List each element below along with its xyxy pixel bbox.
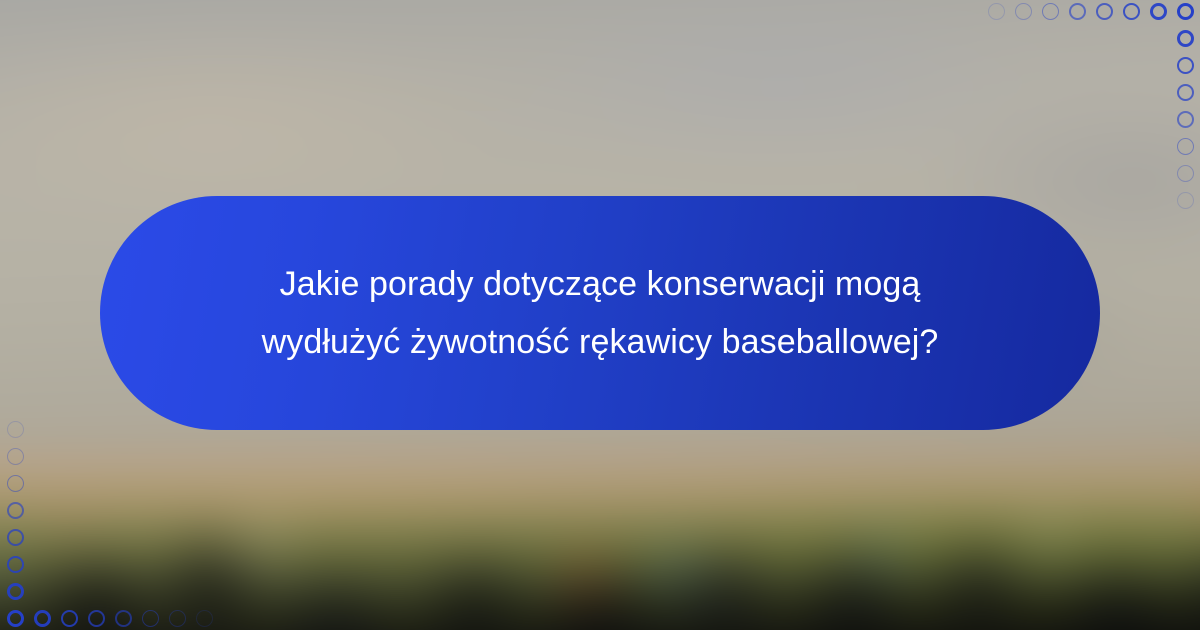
dot-left-col-1 [7, 583, 24, 600]
dot-top-row-2 [1123, 3, 1140, 20]
dot-left-col-3 [7, 529, 24, 546]
social-card-canvas: Jakie porady dotyczące konserwacji mogą … [0, 0, 1200, 630]
dot-bottom-row-7 [196, 610, 213, 627]
dot-right-col-3 [1177, 84, 1194, 101]
dot-top-row-0 [1177, 3, 1194, 20]
dot-bottom-row-1 [34, 610, 51, 627]
dot-left-col-6 [7, 448, 24, 465]
question-text: Jakie porady dotyczące konserwacji mogą … [230, 255, 970, 371]
dot-bottom-row-0 [7, 610, 24, 627]
dot-bottom-row-5 [142, 610, 159, 627]
dot-right-col-1 [1177, 30, 1194, 47]
dot-left-col-4 [7, 502, 24, 519]
question-card: Jakie porady dotyczące konserwacji mogą … [100, 196, 1100, 430]
dot-right-col-7 [1177, 192, 1194, 209]
dot-right-col-5 [1177, 138, 1194, 155]
dot-left-col-2 [7, 556, 24, 573]
dot-top-row-3 [1096, 3, 1113, 20]
dot-grid-bottom-left [0, 414, 216, 630]
dot-bottom-row-6 [169, 610, 186, 627]
dot-top-row-4 [1069, 3, 1086, 20]
dot-left-col-5 [7, 475, 24, 492]
dot-bottom-row-4 [115, 610, 132, 627]
dot-bottom-row-3 [88, 610, 105, 627]
dot-top-row-1 [1150, 3, 1167, 20]
dot-left-col-7 [7, 421, 24, 438]
dot-top-row-6 [1015, 3, 1032, 20]
dot-right-col-4 [1177, 111, 1194, 128]
dot-right-col-2 [1177, 57, 1194, 74]
dot-right-col-6 [1177, 165, 1194, 182]
dot-bottom-row-2 [61, 610, 78, 627]
dot-top-row-5 [1042, 3, 1059, 20]
dot-top-row-7 [988, 3, 1005, 20]
dot-grid-top-right [984, 0, 1200, 216]
